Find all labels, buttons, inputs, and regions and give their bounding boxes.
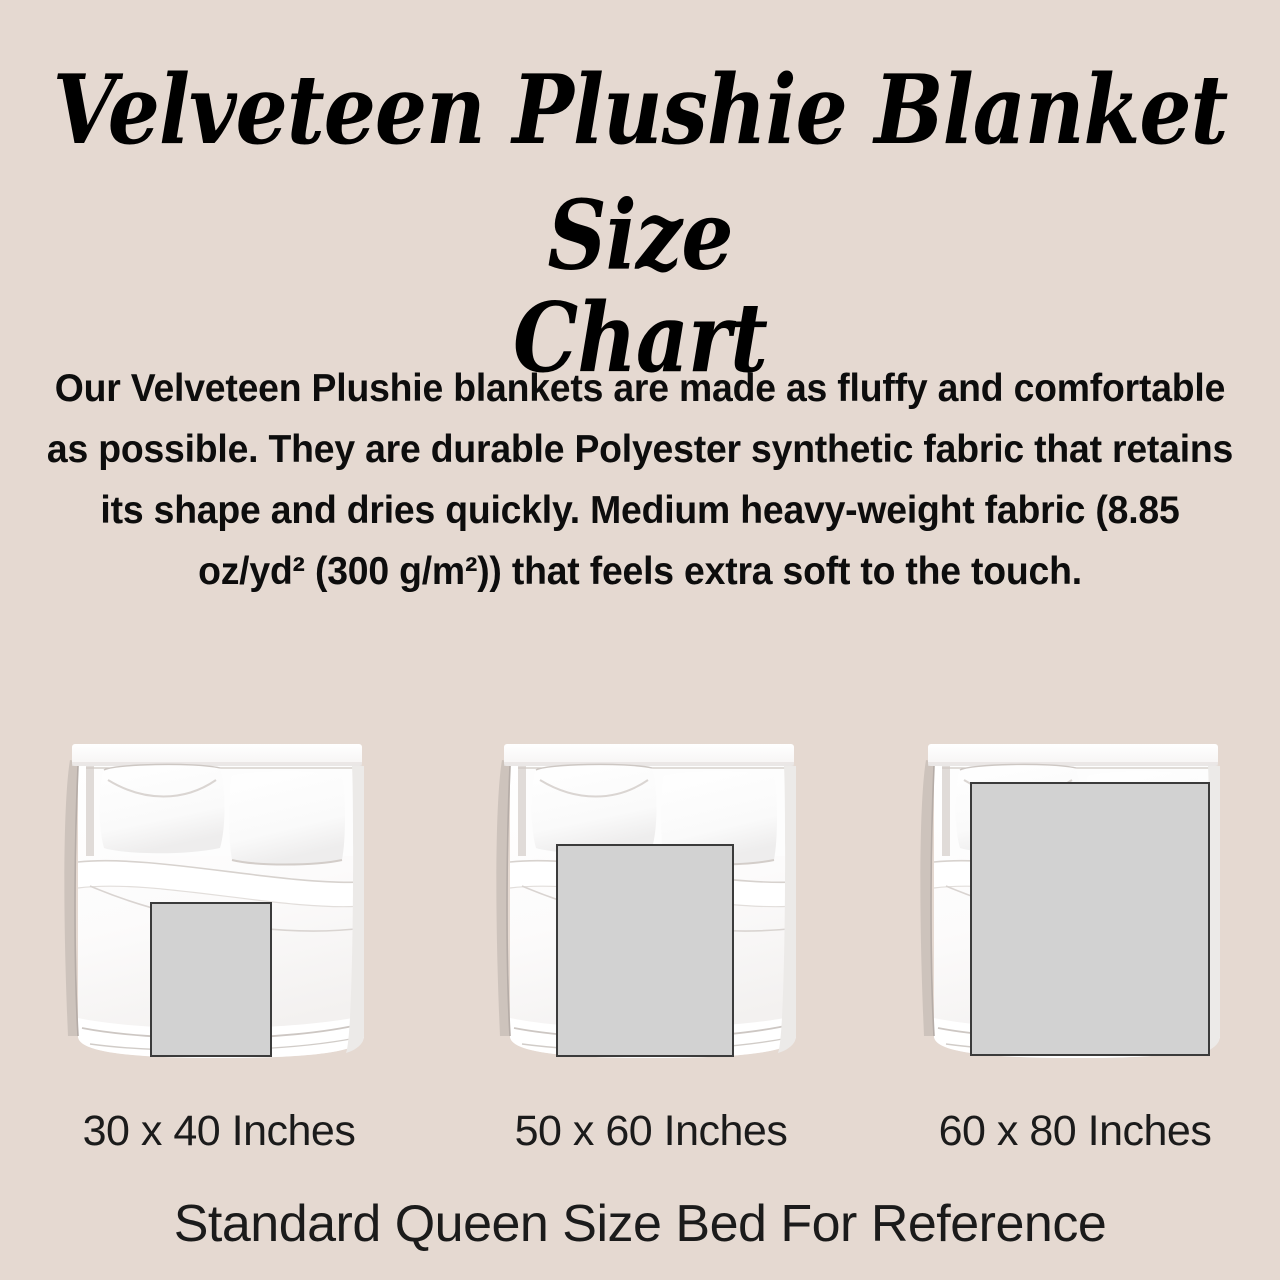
footer-caption: Standard Queen Size Bed For Reference (0, 1192, 1280, 1256)
blanket-swatch-50x60 (556, 844, 734, 1057)
size-label-50x60: 50 x 60 Inches (466, 1106, 836, 1156)
bed-comparison-row (0, 736, 1280, 1066)
size-label-30x40: 30 x 40 Inches (34, 1106, 404, 1156)
size-label-60x80: 60 x 80 Inches (890, 1106, 1260, 1156)
size-chart-page: Velveteen Plushie Blanket Size Chart Our… (0, 0, 1280, 1280)
bed-figure-50x60 (466, 736, 836, 1066)
intro-paragraph: Our Velveteen Plushie blankets are made … (46, 358, 1233, 602)
page-title: Velveteen Plushie Blanket Size Chart (0, 48, 1280, 384)
bed-figure-60x80 (890, 736, 1260, 1066)
blanket-swatch-60x80 (970, 782, 1210, 1056)
bed-figure-30x40 (34, 736, 404, 1066)
blanket-swatch-30x40 (150, 902, 272, 1057)
page-title-line-1: Velveteen Plushie Blanket Size (0, 48, 1280, 299)
